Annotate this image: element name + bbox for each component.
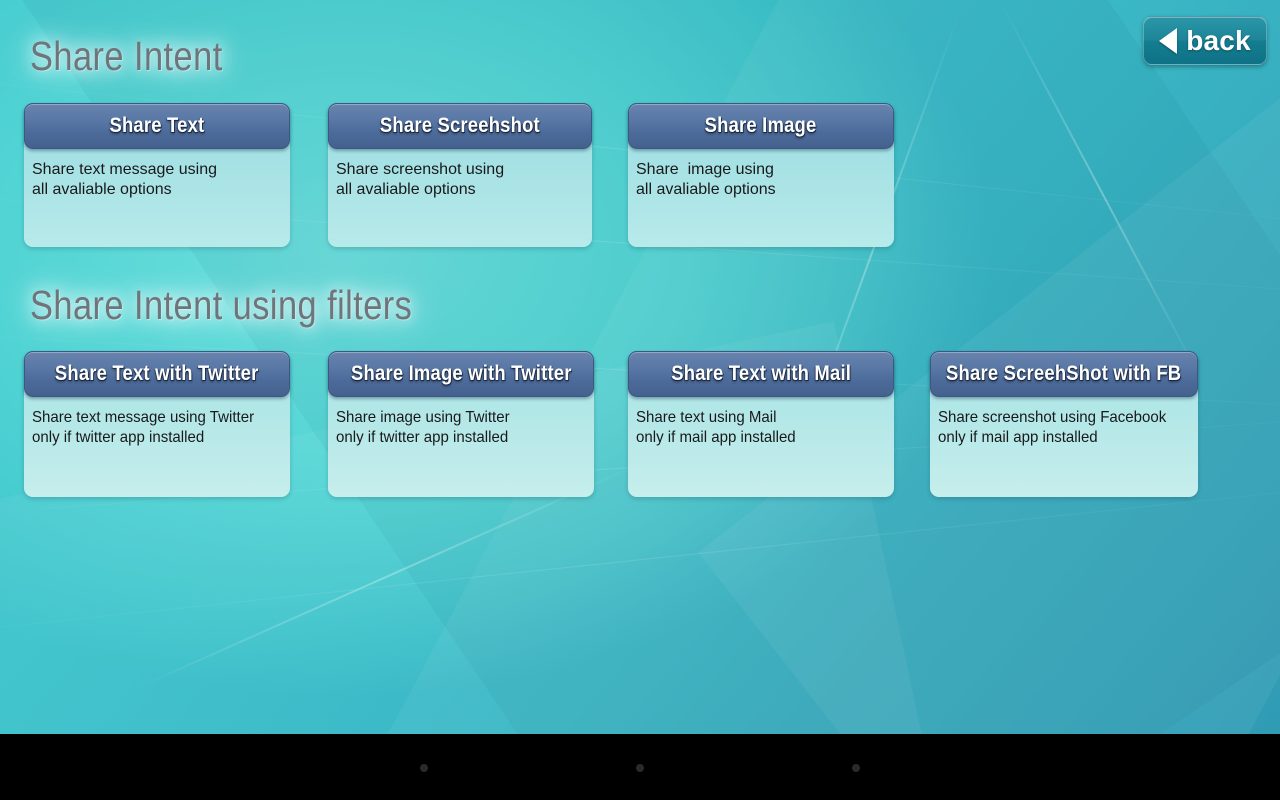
share-screenshot-button[interactable]: Share Screehshot (328, 103, 592, 149)
nav-dot-back[interactable] (420, 764, 428, 772)
share-image-button-label: Share Image (705, 114, 817, 138)
section-title-share-intent-filters: Share Intent using filters (30, 282, 412, 329)
share-screenshot-button-label: Share Screehshot (380, 114, 540, 138)
card-share-text-mail[interactable]: Share Text with Mail Share text using Ma… (628, 352, 894, 497)
back-button-label: back (1186, 25, 1251, 57)
share-text-twitter-button-label: Share Text with Twitter (55, 362, 259, 386)
nav-dot-home[interactable] (636, 764, 644, 772)
card-share-text[interactable]: Share Text Share text message using all … (24, 104, 290, 247)
card-share-screenshot[interactable]: Share Screehshot Share screenshot using … (328, 104, 592, 247)
share-screenshot-fb-button[interactable]: Share ScreehShot with FB (930, 351, 1198, 397)
share-image-twitter-button-label: Share Image with Twitter (351, 362, 572, 386)
card-share-image-twitter[interactable]: Share Image with Twitter Share image usi… (328, 352, 594, 497)
app-screen: back Share Intent Share Text Share text … (0, 0, 1280, 800)
share-screenshot-fb-button-label: Share ScreehShot with FB (946, 362, 1181, 386)
share-text-mail-button-label: Share Text with Mail (671, 362, 851, 386)
share-text-button[interactable]: Share Text (24, 103, 290, 149)
share-text-mail-button[interactable]: Share Text with Mail (628, 351, 894, 397)
card-share-screenshot-fb[interactable]: Share ScreehShot with FB Share screensho… (930, 352, 1198, 497)
share-image-twitter-button[interactable]: Share Image with Twitter (328, 351, 594, 397)
card-share-text-twitter[interactable]: Share Text with Twitter Share text messa… (24, 352, 290, 497)
section-title-share-intent: Share Intent (30, 33, 223, 80)
share-text-twitter-button[interactable]: Share Text with Twitter (24, 351, 290, 397)
share-image-button[interactable]: Share Image (628, 103, 894, 149)
card-share-image[interactable]: Share Image Share image using all avalia… (628, 104, 894, 247)
nav-dot-recents[interactable] (852, 764, 860, 772)
share-text-button-label: Share Text (110, 114, 205, 138)
triangle-left-icon (1159, 28, 1177, 54)
back-button[interactable]: back (1143, 16, 1267, 65)
